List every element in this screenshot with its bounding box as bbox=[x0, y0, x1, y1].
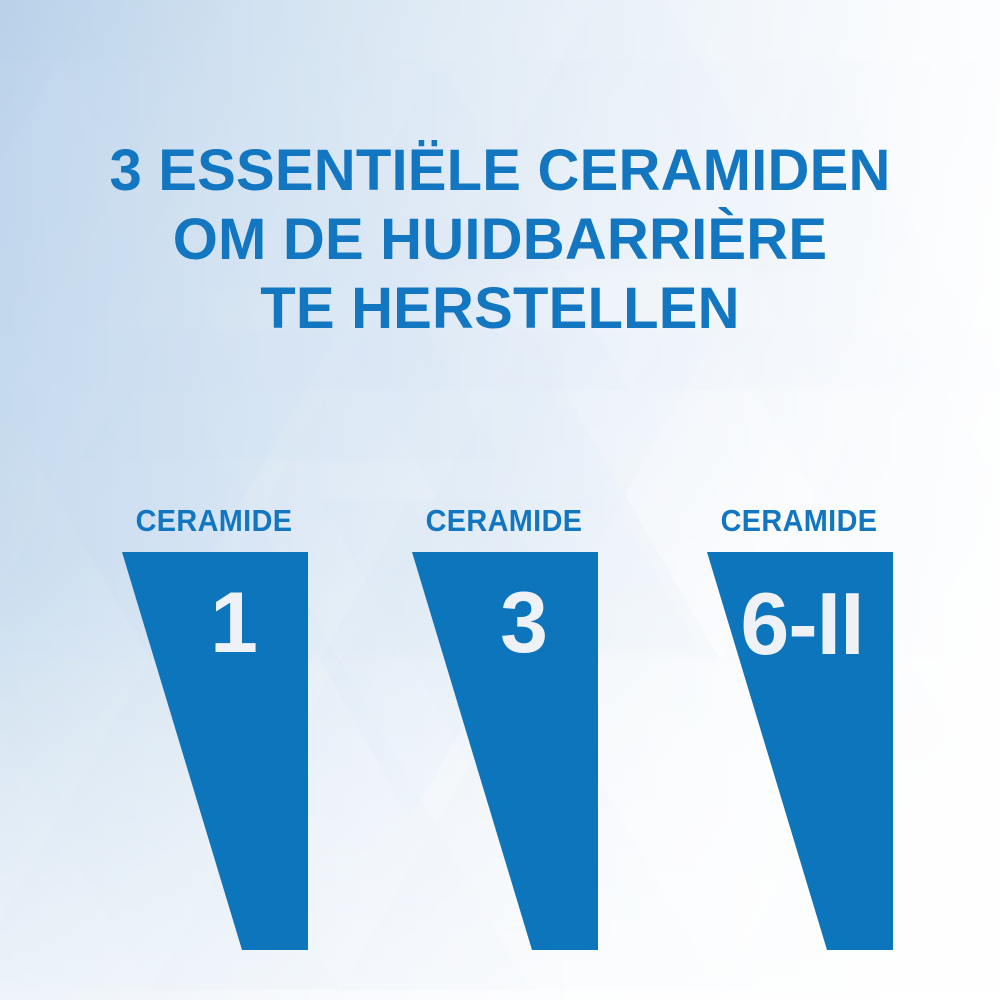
ceramide-wedge-shape-1 bbox=[118, 0, 310, 1000]
ceramide-item-2: CERAMIDE 3 bbox=[408, 0, 600, 1000]
ceramide-number-3: 6-II bbox=[709, 580, 895, 668]
ceramide-item-3: CERAMIDE 6-II bbox=[703, 0, 895, 1000]
ceramide-infographic-poster: 3 ESSENTIËLE CERAMIDEN OM DE HUIDBARRIÈR… bbox=[0, 0, 1000, 1000]
ceramide-wedge-group: CERAMIDE 1 CERAMIDE 3 CERAMIDE 6-II bbox=[0, 0, 1000, 1000]
ceramide-number-2: 3 bbox=[464, 580, 584, 666]
ceramide-item-1: CERAMIDE 1 bbox=[118, 0, 310, 1000]
ceramide-wedge-shape-2 bbox=[408, 0, 600, 1000]
ceramide-number-1: 1 bbox=[174, 580, 294, 666]
ceramide-wedge-shape-3 bbox=[703, 0, 895, 1000]
